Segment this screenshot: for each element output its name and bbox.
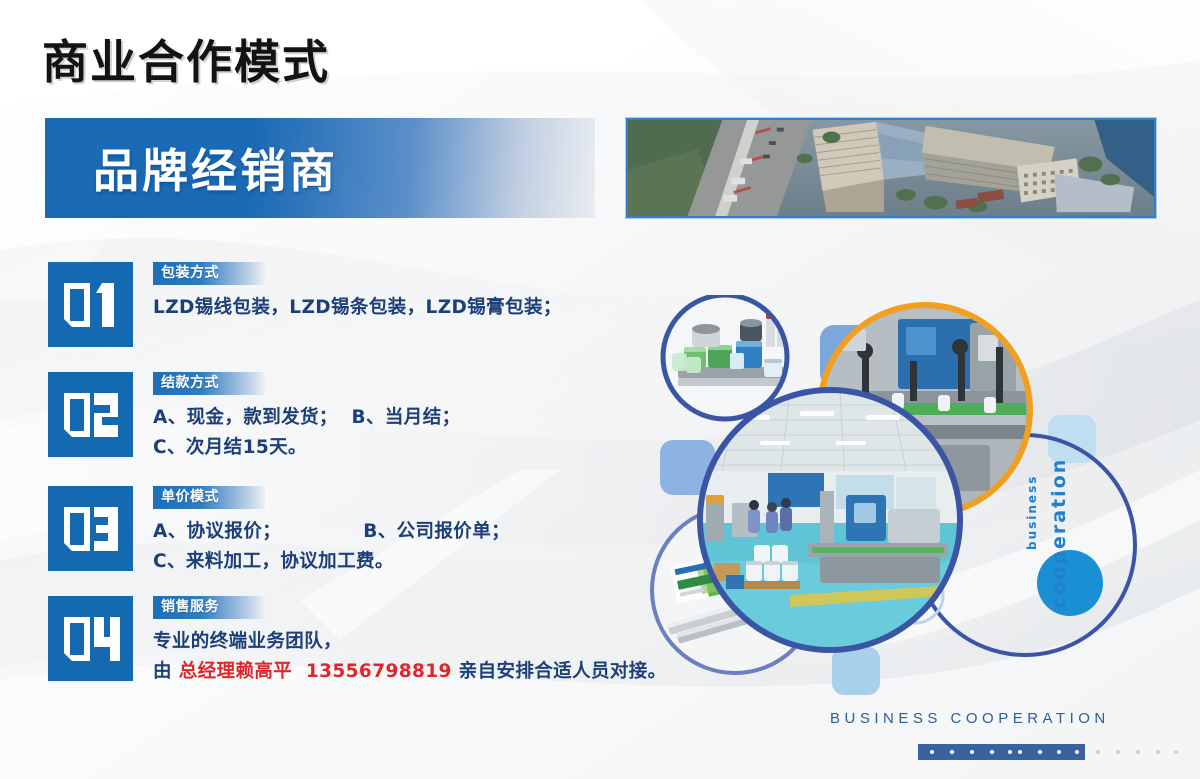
item-text-03-line1: A、协议报价； B、公司报价单；	[153, 517, 510, 547]
item-tag-04: 销售服务	[153, 596, 265, 619]
brand-banner-label: 品牌经销商	[93, 135, 338, 201]
item-tag-01: 包装方式	[153, 262, 265, 285]
digits-01-icon	[60, 279, 122, 331]
number-badge-01	[48, 262, 133, 347]
number-badge-04	[48, 596, 133, 681]
solid-cyan-circle	[1037, 550, 1103, 616]
item-04-suffix: 亲自安排合适人员对接。	[452, 661, 667, 682]
item-body-01: 包装方式 LZD锡线包装，LZD锡条包装，LZD锡膏包装；	[153, 262, 562, 323]
hero-campus-photo	[626, 118, 1156, 218]
digits-02-icon	[60, 389, 122, 441]
number-badge-03	[48, 486, 133, 571]
item-tag-02: 结款方式	[153, 372, 265, 395]
footer-caption: BUSINESS COOPERATION	[830, 710, 1110, 727]
item-text-04-line1: 专业的终端业务团队，	[153, 627, 667, 657]
item-text-03-line2: C、来料加工，协议加工费。	[153, 547, 510, 577]
item-text-01: LZD锡线包装，LZD锡条包装，LZD锡膏包装；	[153, 293, 562, 323]
number-badge-02	[48, 372, 133, 457]
item-04-contact-highlight: 总经理赖高平 13556798819	[179, 661, 452, 682]
collage-graphics	[640, 295, 1200, 725]
photo-collage: business cooperation	[640, 295, 1200, 715]
page-title: 商业合作模式	[42, 26, 330, 92]
campus-photo-illustration	[628, 120, 1154, 216]
item-body-04: 销售服务 专业的终端业务团队， 由 总经理赖高平 13556798819 亲自安…	[153, 596, 667, 687]
digits-04-icon	[60, 613, 122, 665]
brand-banner: 品牌经销商	[45, 118, 595, 218]
vertical-label-cooperation: cooperation	[1048, 458, 1070, 608]
item-body-03: 单价模式 A、协议报价； B、公司报价单； C、来料加工，协议加工费。	[153, 486, 510, 577]
item-text-02-line1: A、现金，款到发货； B、当月结；	[153, 403, 461, 433]
decor-square-5	[832, 647, 880, 695]
item-tag-03: 单价模式	[153, 486, 265, 509]
item-text-04-line2: 由 总经理赖高平 13556798819 亲自安排合适人员对接。	[153, 657, 667, 687]
digits-03-icon	[60, 503, 122, 555]
item-04-prefix: 由	[153, 661, 179, 682]
vertical-label-business: business	[1025, 475, 1039, 550]
poster-canvas: 商业合作模式 品牌经销商	[0, 0, 1200, 779]
item-body-02: 结款方式 A、现金，款到发货； B、当月结； C、次月结15天。	[153, 372, 461, 463]
footer-dot-bar	[918, 744, 1188, 760]
item-text-02-line2: C、次月结15天。	[153, 433, 461, 463]
